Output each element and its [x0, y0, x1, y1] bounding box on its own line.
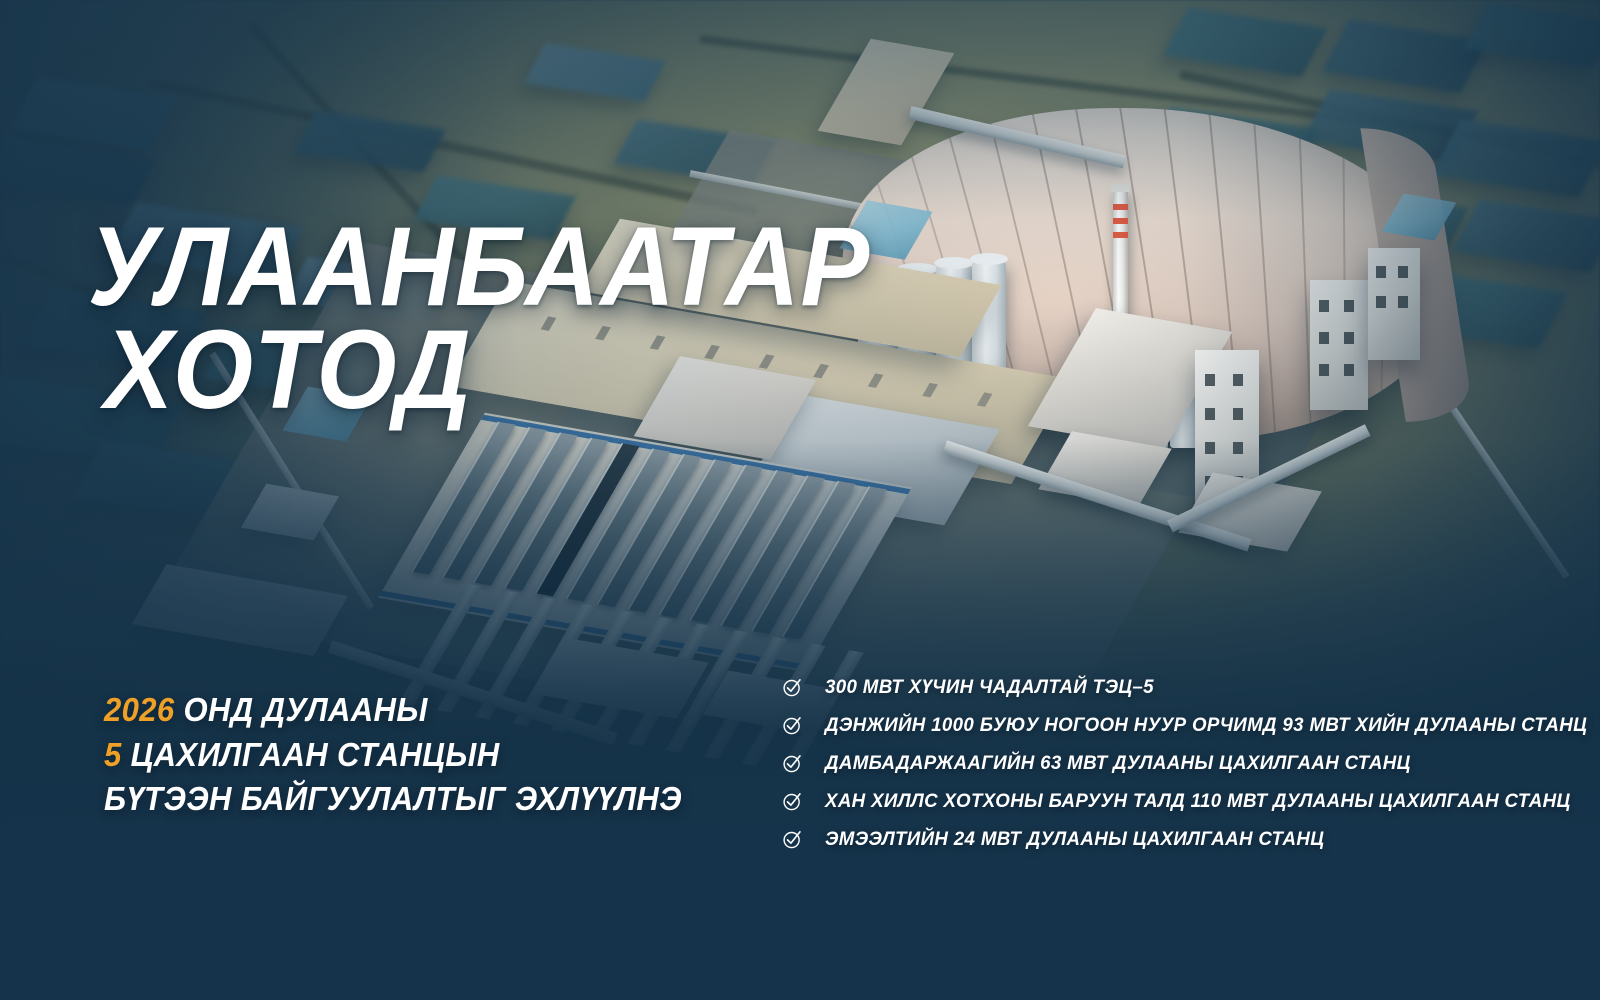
title-line-2: ХОТОД: [105, 318, 871, 421]
plant-list: 300 МВТ ХҮЧИН ЧАДАЛТАЙ ТЭЦ–5ДЭНЖИЙН 1000…: [782, 676, 1600, 851]
list-item: ЭМЭЭЛТИЙН 24 МВТ ДУЛААНЫ ЦАХИЛГААН СТАНЦ: [782, 828, 1600, 851]
list-item: 300 МВТ ХҮЧИН ЧАДАЛТАЙ ТЭЦ–5: [782, 676, 1600, 699]
check-circle-icon: [782, 715, 803, 736]
list-item: ХАН ХИЛЛС ХОТХОНЫ БАРУУН ТАЛД 110 МВТ ДУ…: [782, 790, 1600, 813]
check-circle-icon: [782, 791, 803, 812]
headline-line-1-text: ОНД ДУЛААНЫ: [175, 691, 428, 728]
infographic-poster: УЛААНБААТАР ХОТОД 2026 ОНД ДУЛААНЫ 5 ЦАХ…: [0, 0, 1600, 1000]
headline-line-2: 5 ЦАХИЛГААН СТАНЦЫН: [104, 733, 682, 778]
list-item-label: ДАМБАДАРЖААГИЙН 63 МВТ ДУЛААНЫ ЦАХИЛГААН…: [825, 752, 1411, 775]
list-item-label: ХАН ХИЛЛС ХОТХОНЫ БАРУУН ТАЛД 110 МВТ ДУ…: [825, 790, 1570, 813]
list-item-label: ДЭНЖИЙН 1000 БУЮУ НОГООН НУУР ОРЧИМД 93 …: [825, 714, 1587, 737]
list-item: ДЭНЖИЙН 1000 БУЮУ НОГООН НУУР ОРЧИМД 93 …: [782, 714, 1600, 737]
headline-year: 2026: [104, 691, 175, 728]
headline-line-2-text: ЦАХИЛГААН СТАНЦЫН: [122, 736, 500, 773]
check-circle-icon: [782, 829, 803, 850]
headline-line-1: 2026 ОНД ДУЛААНЫ: [104, 688, 682, 733]
list-item-label: 300 МВТ ХҮЧИН ЧАДАЛТАЙ ТЭЦ–5: [825, 676, 1154, 699]
list-item-label: ЭМЭЭЛТИЙН 24 МВТ ДУЛААНЫ ЦАХИЛГААН СТАНЦ: [825, 828, 1324, 851]
list-item: ДАМБАДАРЖААГИЙН 63 МВТ ДУЛААНЫ ЦАХИЛГААН…: [782, 752, 1600, 775]
check-circle-icon: [782, 677, 803, 698]
check-circle-icon: [782, 753, 803, 774]
headline-count: 5: [104, 736, 122, 773]
headline-line-3: БҮТЭЭН БАЙГУУЛАЛТЫГ ЭХЛҮҮЛНЭ: [104, 777, 682, 822]
headline-block: 2026 ОНД ДУЛААНЫ 5 ЦАХИЛГААН СТАНЦЫН БҮТ…: [104, 688, 682, 822]
page-title: УЛААНБААТАР ХОТОД: [88, 112, 870, 524]
